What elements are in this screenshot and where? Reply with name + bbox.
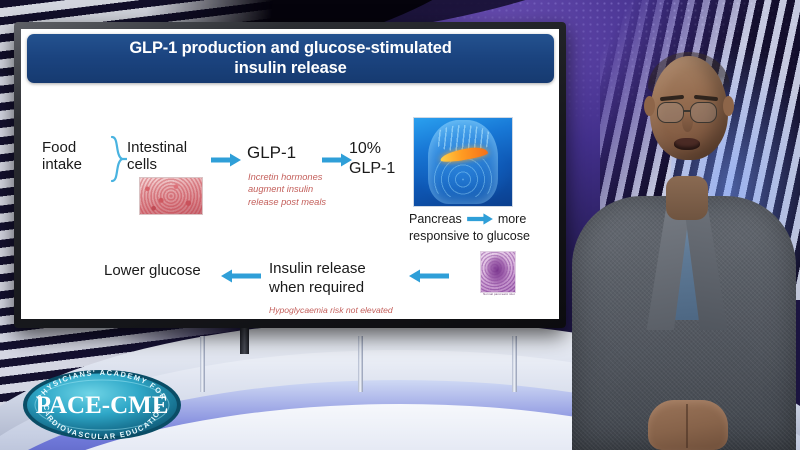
- slide-title-line-1: GLP-1 production and glucose-stimulated: [129, 39, 451, 57]
- pancreatic-islet-micrograph: [480, 251, 516, 293]
- arrow-right-glp1-to-ten-percent: [322, 153, 352, 167]
- intestinal-cells-line-2: cells: [127, 156, 203, 173]
- presenter-neck: [666, 176, 708, 220]
- presenter-nose: [682, 112, 693, 132]
- pancreas-more-label: more: [498, 211, 526, 228]
- food-intake-line-1: Food: [42, 139, 104, 156]
- node-ten-percent-glp1: 10% GLP-1: [349, 139, 407, 179]
- node-lower-glucose: Lower glucose: [104, 262, 201, 279]
- ten-percent-line-1: 10%: [349, 139, 407, 159]
- ten-percent-line-2: GLP-1: [349, 159, 407, 179]
- pace-cme-logo: PHYSICIANS' ACADEMY FOR CARDIOVASCULAR E…: [20, 368, 184, 442]
- curly-brace-icon: [109, 135, 127, 183]
- anatomy-illustration: [413, 117, 513, 207]
- presenter-hands: [648, 400, 728, 450]
- node-glp1: GLP-1: [247, 143, 296, 163]
- slide-title-bar: GLP-1 production and glucose-stimulated …: [27, 34, 554, 83]
- pancreas-label: Pancreas: [409, 211, 462, 228]
- note-incretin-hormones: Incretin hormones augment insulin releas…: [248, 171, 328, 208]
- pancreas-anatomy-image: [413, 117, 513, 207]
- node-pancreas-responsive: Pancreas more responsive to glucose: [409, 211, 557, 245]
- railing-post: [358, 336, 363, 392]
- presenter-glasses-right-lens: [690, 102, 717, 123]
- presenter-mouth: [674, 138, 700, 150]
- presenter-ear-left: [644, 96, 655, 116]
- insulin-release-line-2: when required: [269, 278, 399, 297]
- presenter-hands-separation: [686, 404, 688, 448]
- presenter: [568, 0, 800, 450]
- node-intestinal-cells: Intestinal cells: [127, 139, 203, 174]
- intestinal-cells-micrograph: [139, 177, 203, 215]
- intestines: [434, 158, 493, 197]
- pancreas-responsive-label: responsive to glucose: [409, 228, 557, 245]
- arrow-left-insulin-to-lower-glucose: [221, 269, 261, 283]
- presenter-ear-right: [723, 96, 734, 116]
- screenshot-stage: GLP-1 production and glucose-stimulated …: [0, 0, 800, 450]
- note-hypoglycaemia-risk: Hypoglycaemia risk not elevated: [269, 305, 459, 316]
- micrograph-surface: [139, 177, 203, 215]
- ribcage: [434, 125, 493, 151]
- food-intake-line-2: intake: [42, 156, 104, 173]
- insulin-release-line-1: Insulin release: [269, 259, 399, 278]
- intestinal-cells-line-1: Intestinal: [127, 139, 203, 156]
- islet-caption: Normal pancreatic islet: [476, 293, 522, 296]
- arrow-left-islet-to-insulin: [409, 269, 449, 283]
- railing-post: [512, 336, 517, 392]
- arrow-right-pancreas-to-responsive: [467, 213, 493, 225]
- node-insulin-release: Insulin release when required: [269, 259, 399, 297]
- logo-wordmark: PACE-CME: [36, 392, 169, 419]
- slide-diagram: Food intake Intestinal cells: [21, 87, 559, 319]
- islet-surface: [480, 251, 516, 293]
- presenter-glasses-left-lens: [657, 102, 684, 123]
- arrow-right-intestinal-to-glp1: [211, 153, 241, 167]
- slide-title: GLP-1 production and glucose-stimulated …: [129, 39, 451, 78]
- node-food-intake: Food intake: [42, 139, 104, 174]
- glp1-label: GLP-1: [247, 143, 296, 162]
- slide-title-line-2: insulin release: [234, 59, 346, 77]
- railing-post: [200, 336, 205, 392]
- presentation-monitor: GLP-1 production and glucose-stimulated …: [14, 22, 566, 328]
- monitor-stand: [240, 328, 249, 354]
- slide: GLP-1 production and glucose-stimulated …: [21, 29, 559, 319]
